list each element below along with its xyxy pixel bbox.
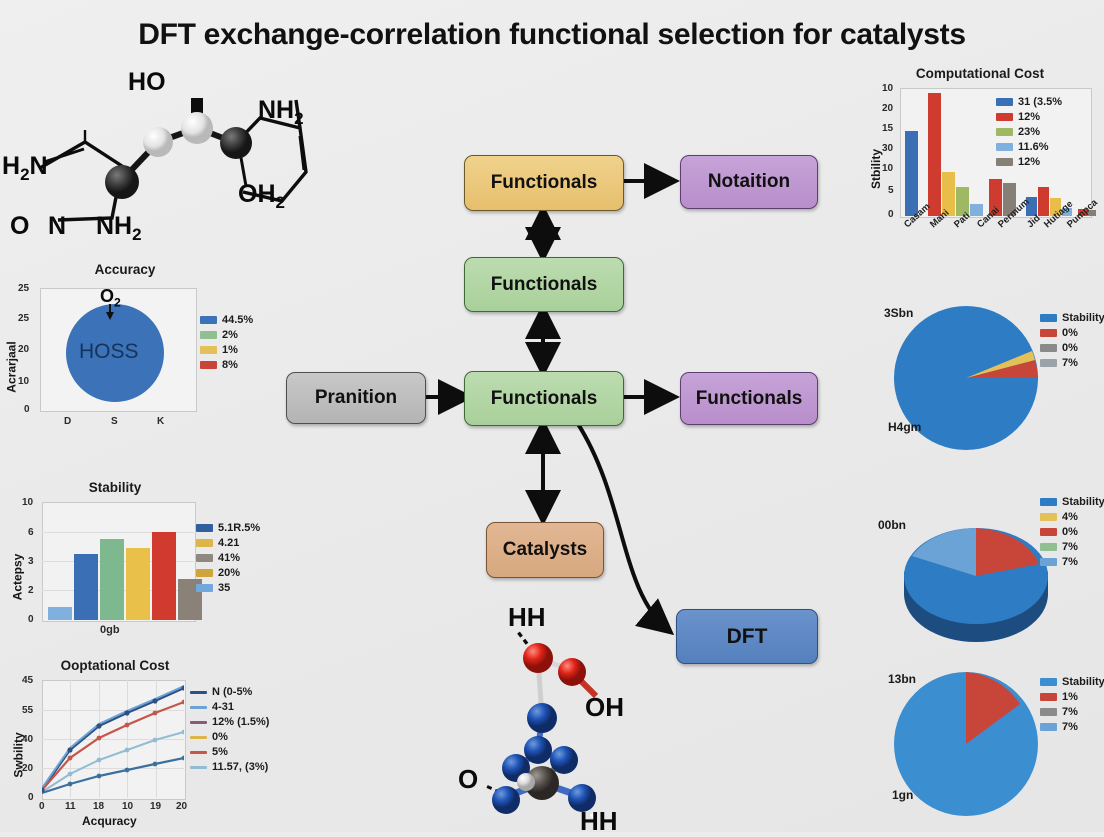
molecule3d-label-o: O: [458, 764, 478, 795]
pie-chart-1-legend: Stability 0% 0% 7%: [1040, 312, 1104, 372]
accuracy-y-tick-2: 20: [18, 344, 29, 355]
pie-chart-2-svg: [898, 494, 1058, 654]
accuracy-x-tick-2: K: [157, 416, 164, 427]
accuracy-y-axis-label: Acrarjaal: [5, 341, 19, 392]
legend-swatch: [1040, 329, 1057, 337]
legend-swatch: [1040, 693, 1057, 701]
line-x-tick-3: 10: [122, 801, 133, 812]
legend-item: 11.57, (3%): [190, 761, 269, 773]
legend-swatch: [190, 751, 207, 754]
bar: [126, 548, 150, 620]
molecule-2d-structure: HO NH2 H2N O N NH2 OH2: [0, 70, 330, 255]
legend-item: 7%: [1040, 721, 1104, 733]
legend-item: 0%: [1040, 526, 1104, 538]
page-title: DFT exchange-correlation functional sele…: [0, 18, 1104, 52]
legend-item: 4-31: [190, 701, 269, 713]
legend-swatch: [1040, 723, 1057, 731]
legend-label: Stability: [1062, 676, 1104, 688]
molecule-3d-svg: [450, 600, 690, 832]
pie-chart-2-legend: Stability 4% 0% 7% 7%: [1040, 496, 1104, 571]
stability-legend: 5.1R.5% 4.21 41% 20% 35: [196, 522, 260, 597]
molecule-label-n: N: [48, 212, 66, 241]
legend-swatch: [196, 569, 213, 577]
legend-swatch: [1040, 543, 1057, 551]
stability-y-tick-4: 0: [28, 614, 34, 625]
legend-label: 35: [218, 582, 230, 594]
legend-swatch: [196, 554, 213, 562]
legend-item: 12% (1.5%): [190, 716, 269, 728]
legend-label: 8%: [222, 359, 238, 371]
line-y-tick-4: 0: [28, 792, 34, 803]
flow-node-top-functionals[interactable]: Functionals: [464, 155, 624, 211]
line-chart-x-axis-label: Acquracy: [82, 814, 137, 828]
poster-canvas: DFT exchange-correlation functional sele…: [0, 0, 1104, 832]
pie-chart-2: 00bn Stability 4% 0% 7% 7%: [862, 486, 1104, 664]
line-y-tick-0: 45: [22, 675, 33, 686]
accuracy-y-tick-4: 0: [24, 404, 30, 415]
cost-bar-chart-title: Computational Cost: [870, 66, 1090, 81]
molecule3d-label-hh-top: HH: [508, 602, 546, 633]
legend-item: 44.5%: [200, 314, 253, 326]
legend-item: 1%: [200, 344, 253, 356]
stability-bars: [43, 502, 194, 620]
legend-item: 12%: [996, 111, 1062, 123]
legend-label: 0%: [1062, 342, 1078, 354]
computational-cost-bar-chart: Computational Cost Stbility 10 20 15 30 …: [862, 66, 1104, 264]
legend-swatch: [200, 316, 217, 324]
legend-label: Stability: [1062, 312, 1104, 324]
legend-label: 7%: [1062, 556, 1078, 568]
legend-label: 1%: [222, 344, 238, 356]
legend-label: 11.6%: [1018, 141, 1049, 153]
legend-swatch: [200, 331, 217, 339]
computational-cost-line-chart: Ooptational Cost Swbility Acquracy 45 55…: [0, 658, 300, 832]
bar: [905, 131, 918, 216]
accuracy-x-tick-1: S: [111, 416, 118, 427]
legend-item: Stability: [1040, 312, 1104, 324]
line-y-tick-2: 40: [22, 734, 33, 745]
legend-label: Stability: [1062, 496, 1104, 508]
legend-swatch: [200, 346, 217, 354]
line-chart-title: Ooptational Cost: [20, 658, 210, 673]
legend-item: 5.1R.5%: [196, 522, 260, 534]
legend-label: 1%: [1062, 691, 1078, 703]
legend-label: 0%: [212, 731, 228, 743]
flow-node-catalysts[interactable]: Catalysts: [486, 522, 604, 578]
legend-label: 12%: [1018, 111, 1040, 123]
molecule-label-nh2-right: NH2: [258, 96, 304, 129]
pie-chart-3-label-top: 13bn: [888, 672, 916, 686]
cost-y-tick-2: 15: [882, 123, 893, 134]
legend-item: 0%: [1040, 342, 1104, 354]
legend-label: 5%: [212, 746, 228, 758]
legend-item: 31 (3.5%: [996, 96, 1062, 108]
legend-swatch: [196, 524, 213, 532]
line-chart-series-svg: [42, 680, 184, 798]
accuracy-x-tick-0: D: [64, 416, 71, 427]
legend-swatch: [1040, 498, 1057, 506]
legend-item: 23%: [996, 126, 1062, 138]
accuracy-chart: Accuracy Acrarjaal 25 25 20 10 0 D S K H…: [0, 262, 270, 462]
accuracy-y-tick-0: 25: [18, 283, 29, 294]
legend-item: 0%: [1040, 327, 1104, 339]
line-y-tick-1: 55: [22, 705, 33, 716]
legend-label: 12%: [1018, 156, 1040, 168]
accuracy-annotation-arrow: [104, 304, 118, 320]
legend-item: 4%: [1040, 511, 1104, 523]
cost-bar-y-axis-label: Stbility: [869, 149, 883, 189]
line-y-tick-3: 20: [22, 763, 33, 774]
legend-item: 8%: [200, 359, 253, 371]
legend-label: 23%: [1018, 126, 1040, 138]
legend-swatch: [190, 721, 207, 724]
legend-item: 7%: [1040, 357, 1104, 369]
legend-item: 0%: [190, 731, 269, 743]
legend-swatch: [1040, 678, 1057, 686]
molecule-label-o: O: [10, 212, 29, 241]
legend-swatch: [200, 361, 217, 369]
legend-item: 7%: [1040, 706, 1104, 718]
line-x-tick-2: 18: [93, 801, 104, 812]
molecule3d-label-hh-bottom: HH: [580, 806, 618, 837]
legend-swatch: [190, 766, 207, 769]
stability-y-tick-3: 2: [28, 585, 34, 596]
legend-swatch: [1040, 528, 1057, 536]
legend-label: 4.21: [218, 537, 239, 549]
pie-chart-1-label-top: 3Sbn: [884, 306, 913, 320]
bar: [48, 607, 72, 620]
legend-label: 11.57, (3%): [212, 761, 268, 773]
legend-label: 0%: [1062, 327, 1078, 339]
legend-swatch: [1040, 708, 1057, 716]
bar: [928, 93, 941, 216]
legend-item: 4.21: [196, 537, 260, 549]
legend-label: 7%: [1062, 721, 1078, 733]
cost-y-tick-0: 10: [882, 83, 893, 94]
legend-item: Stability: [1040, 496, 1104, 508]
legend-label: 0%: [1062, 526, 1078, 538]
legend-label: 31 (3.5%: [1018, 96, 1062, 108]
legend-swatch: [996, 113, 1013, 121]
bar: [1038, 187, 1049, 216]
legend-label: 12% (1.5%): [212, 716, 269, 728]
line-chart-legend: N (0-5% 4-31 12% (1.5%) 0% 5% 11.57, (3%…: [190, 686, 269, 776]
line-x-tick-5: 20: [176, 801, 187, 812]
molecule-label-oh2: OH2: [238, 180, 285, 213]
pie-chart-1-label-bottom: H4gm: [888, 420, 921, 434]
flow-node-right-functionals[interactable]: Functionals: [680, 372, 818, 425]
pie-chart-3-svg: [894, 666, 1044, 826]
legend-swatch: [1040, 513, 1057, 521]
pie-chart-1: 3Sbn H4gm Stability 0% 0% 7%: [862, 292, 1104, 470]
legend-item: 5%: [190, 746, 269, 758]
flow-node-notation[interactable]: Notaition: [680, 155, 818, 209]
cost-y-tick-1: 20: [882, 103, 893, 114]
stability-x-axis-label: 0gb: [100, 624, 120, 636]
molecule-label-nh2-bottom: NH2: [96, 212, 142, 245]
bar: [100, 539, 124, 620]
accuracy-chart-title: Accuracy: [30, 262, 220, 277]
pie-chart-2-label: 00bn: [878, 518, 906, 532]
legend-label: 20%: [218, 567, 240, 579]
pie-chart-3-label-bottom: 1gn: [892, 788, 913, 802]
legend-label: 7%: [1062, 541, 1078, 553]
legend-swatch: [190, 736, 207, 739]
accuracy-y-tick-1: 25: [18, 313, 29, 324]
stability-y-axis-label: Actepsy: [10, 554, 24, 601]
legend-swatch: [1040, 558, 1057, 566]
line-x-tick-4: 19: [150, 801, 161, 812]
legend-swatch: [190, 691, 207, 694]
stability-chart: Stability Actepsy 10 6 3 2 0 0gb 5.1R.5%…: [0, 480, 270, 650]
cost-y-tick-6: 0: [888, 209, 894, 220]
legend-swatch: [996, 143, 1013, 151]
legend-item: 7%: [1040, 556, 1104, 568]
legend-label: 44.5%: [222, 314, 253, 326]
stability-chart-title: Stability: [20, 480, 210, 495]
flow-node-middle-functionals[interactable]: Functionals: [464, 257, 624, 312]
cost-bar-legend: 31 (3.5% 12% 23% 11.6% 12%: [996, 96, 1062, 171]
legend-item: 11.6%: [996, 141, 1062, 153]
legend-item: 20%: [196, 567, 260, 579]
line-x-tick-1: 11: [65, 801, 76, 812]
line-x-tick-0: 0: [39, 801, 45, 812]
legend-swatch: [1040, 359, 1057, 367]
flow-node-dft[interactable]: DFT: [676, 609, 818, 664]
pie-chart-3-legend: Stability 1% 7% 7%: [1040, 676, 1104, 736]
legend-label: N (0-5%: [212, 686, 252, 698]
cost-y-tick-5: 5: [888, 185, 894, 196]
legend-label: 4%: [1062, 511, 1078, 523]
legend-swatch: [996, 158, 1013, 166]
legend-item: N (0-5%: [190, 686, 269, 698]
legend-label: 7%: [1062, 357, 1078, 369]
cost-y-tick-3: 30: [882, 143, 893, 154]
legend-swatch: [1040, 344, 1057, 352]
legend-item: 12%: [996, 156, 1062, 168]
bar: [970, 204, 983, 216]
stability-y-tick-0: 10: [22, 497, 33, 508]
legend-label: 4-31: [212, 701, 234, 713]
accuracy-legend: 44.5% 2% 1% 8%: [200, 314, 253, 374]
legend-label: 41%: [218, 552, 240, 564]
legend-swatch: [190, 706, 207, 709]
pie-chart-3: 13bn 1gn Stability 1% 7% 7%: [862, 662, 1104, 832]
stability-y-tick-2: 3: [28, 556, 34, 567]
legend-swatch: [996, 98, 1013, 106]
stability-y-tick-1: 6: [28, 527, 34, 538]
legend-item: Stability: [1040, 676, 1104, 688]
molecule3d-label-oh: OH: [585, 692, 624, 723]
legend-item: 41%: [196, 552, 260, 564]
legend-item: 1%: [1040, 691, 1104, 703]
legend-item: 2%: [200, 329, 253, 341]
flow-node-center-functionals[interactable]: Functionals: [464, 371, 624, 426]
pie-chart-1-svg: [894, 298, 1044, 458]
molecule-3d-model: HH OH O HH: [450, 600, 690, 832]
cost-y-tick-4: 10: [882, 163, 893, 174]
legend-swatch: [196, 584, 213, 592]
molecule-label-h2n: H2N: [2, 152, 48, 185]
legend-item: 35: [196, 582, 260, 594]
legend-swatch: [996, 128, 1013, 136]
legend-item: 7%: [1040, 541, 1104, 553]
bar: [152, 532, 176, 620]
legend-label: 7%: [1062, 706, 1078, 718]
molecule-label-ho: HO: [128, 68, 165, 97]
legend-swatch: [1040, 314, 1057, 322]
legend-label: 5.1R.5%: [218, 522, 260, 534]
flow-node-pranition[interactable]: Pranition: [286, 372, 426, 424]
bar: [74, 554, 98, 620]
legend-swatch: [196, 539, 213, 547]
accuracy-bubble-label: HOSS: [79, 340, 139, 364]
legend-label: 2%: [222, 329, 238, 341]
accuracy-y-tick-3: 10: [18, 376, 29, 387]
